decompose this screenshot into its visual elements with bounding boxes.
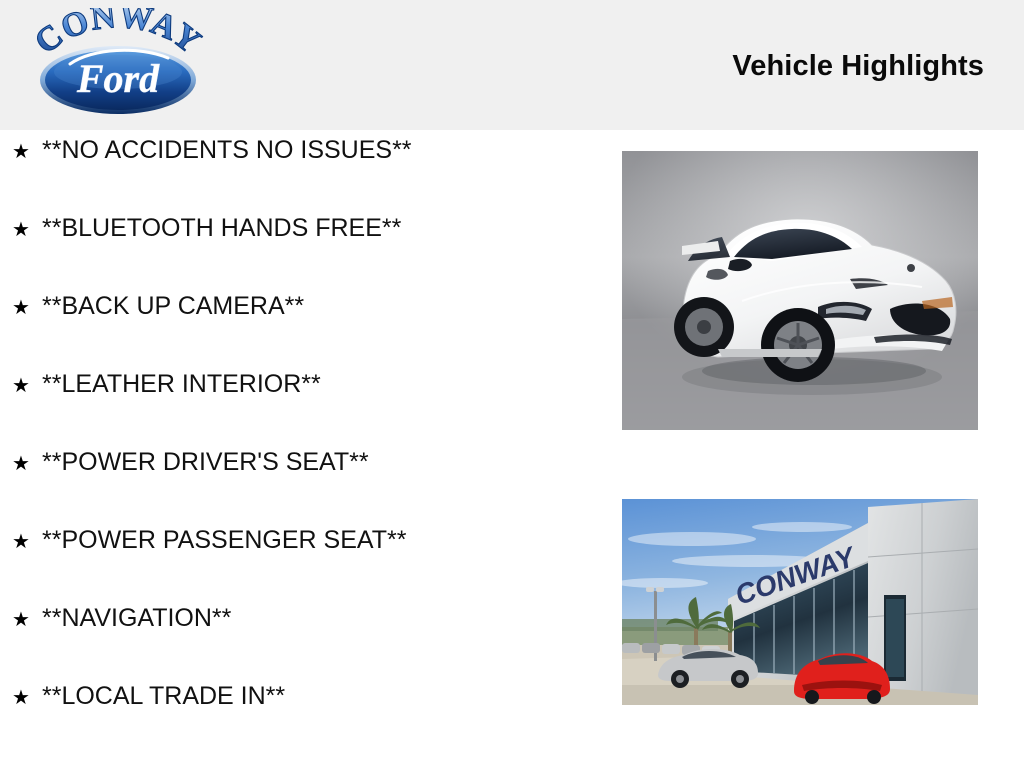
conway-ford-logo: Ford CONWAY — [22, 8, 214, 120]
highlight-label: **POWER PASSENGER SEAT** — [42, 528, 406, 553]
vehicle-photo[interactable] — [622, 151, 978, 430]
list-item: ★ **BACK UP CAMERA** — [0, 294, 600, 372]
list-item: ★ **NO ACCIDENTS NO ISSUES** — [0, 138, 600, 216]
star-icon: ★ — [12, 142, 42, 162]
list-item: ★ **POWER DRIVER'S SEAT** — [0, 450, 600, 528]
list-item: ★ **POWER PASSENGER SEAT** — [0, 528, 600, 606]
star-icon: ★ — [12, 376, 42, 396]
star-icon: ★ — [12, 532, 42, 552]
vehicle-highlights-page: Ford CONWAY Vehicle Highlights ★ **NO AC… — [0, 0, 1024, 768]
star-icon: ★ — [12, 610, 42, 630]
highlight-label: **NO ACCIDENTS NO ISSUES** — [42, 138, 412, 163]
list-item: ★ **NAVIGATION** — [0, 606, 600, 684]
star-icon: ★ — [12, 298, 42, 318]
list-item: ★ **LEATHER INTERIOR** — [0, 372, 600, 450]
dealership-photo-image: CONWAY — [622, 499, 978, 705]
page-content: ★ **NO ACCIDENTS NO ISSUES** ★ **BLUETOO… — [0, 130, 1024, 768]
conway-ford-logo-icon: Ford CONWAY — [22, 8, 214, 120]
star-icon: ★ — [12, 220, 42, 240]
highlight-label: **LEATHER INTERIOR** — [42, 372, 321, 397]
list-item: ★ **LOCAL TRADE IN** — [0, 684, 600, 762]
highlight-label: **POWER DRIVER'S SEAT** — [42, 450, 369, 475]
vehicle-highlights-list: ★ **NO ACCIDENTS NO ISSUES** ★ **BLUETOO… — [0, 138, 600, 762]
highlight-label: **LOCAL TRADE IN** — [42, 684, 285, 709]
star-icon: ★ — [12, 454, 42, 474]
page-title: Vehicle Highlights — [732, 50, 984, 83]
ford-script-text: Ford — [76, 56, 160, 101]
highlight-label: **BLUETOOTH HANDS FREE** — [42, 216, 401, 241]
vehicle-photo-image — [622, 151, 978, 430]
list-item: ★ **BLUETOOTH HANDS FREE** — [0, 216, 600, 294]
dealership-photo[interactable]: CONWAY — [622, 499, 978, 705]
page-header: Ford CONWAY Vehicle Highlights — [0, 0, 1024, 130]
highlight-label: **BACK UP CAMERA** — [42, 294, 304, 319]
star-icon: ★ — [12, 688, 42, 708]
highlight-label: **NAVIGATION** — [42, 606, 231, 631]
